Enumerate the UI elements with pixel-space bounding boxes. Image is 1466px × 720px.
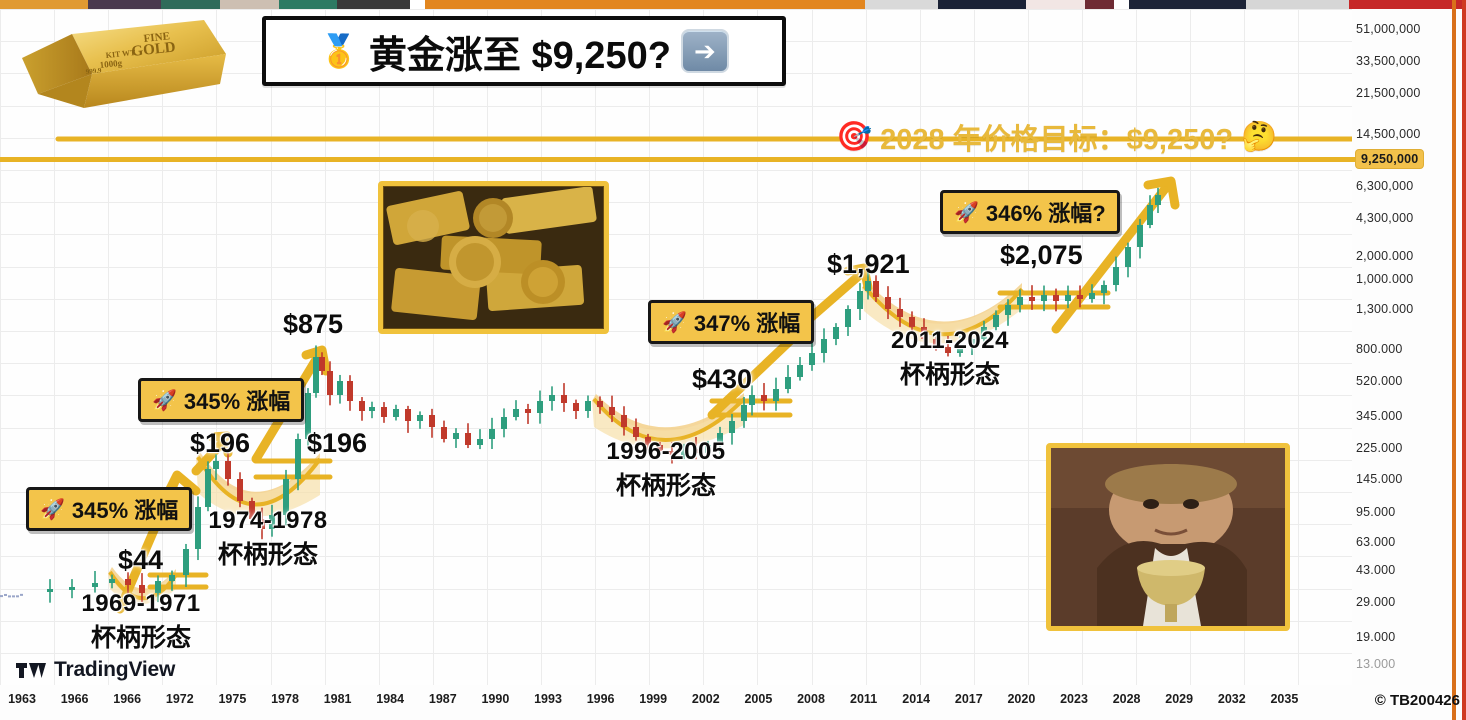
price-axis-tick: 13.000 bbox=[1356, 657, 1448, 671]
price-axis-tick: 6,300,000 bbox=[1356, 179, 1448, 193]
price-axis[interactable]: 51,000,00033,500,00021,500,00014,500,000… bbox=[1356, 0, 1452, 720]
price-callout: $430 bbox=[692, 364, 752, 395]
time-axis-tick: 2017 bbox=[955, 692, 983, 706]
arrow-right-icon[interactable]: ➔ bbox=[681, 29, 729, 73]
price-callout: $875 bbox=[283, 309, 343, 340]
rocket-icon: 🚀 bbox=[40, 497, 65, 522]
time-axis-tick: 1963 bbox=[8, 692, 36, 706]
time-axis-tick: 1990 bbox=[481, 692, 509, 706]
time-axis-tick: 1996 bbox=[587, 692, 615, 706]
dart-target-icon: 🎯 bbox=[836, 120, 872, 154]
tradingview-mark-icon bbox=[16, 662, 46, 679]
price-axis-tick: 19.000 bbox=[1356, 630, 1448, 644]
gain-badge-label: 346% 涨幅? bbox=[986, 196, 1106, 228]
price-axis-tick: 63.000 bbox=[1356, 535, 1448, 549]
pattern-years: 1969-1971 bbox=[81, 590, 200, 618]
time-axis-tick: 2020 bbox=[1007, 692, 1035, 706]
time-axis-tick: 1999 bbox=[639, 692, 667, 706]
price-axis-tick: 9,250,000 bbox=[1356, 150, 1423, 168]
price-axis-tick: 95.000 bbox=[1356, 505, 1448, 519]
price-axis-tick: 43.000 bbox=[1356, 563, 1448, 577]
medal-icon: 🥇 bbox=[319, 35, 359, 67]
pattern-years: 1996-2005 bbox=[606, 438, 725, 466]
time-axis-tick: 2005 bbox=[744, 692, 772, 706]
time-axis-tick: 2002 bbox=[692, 692, 720, 706]
time-axis-tick: 1972 bbox=[166, 692, 194, 706]
price-axis-tick: 1,000.000 bbox=[1356, 272, 1448, 286]
price-axis-tick: 51,000,000 bbox=[1356, 22, 1448, 36]
gain-badge: 🚀345% 涨幅 bbox=[26, 487, 192, 531]
time-axis-tick: 2014 bbox=[902, 692, 930, 706]
pattern-name: 杯柄形态 bbox=[891, 355, 1009, 391]
headline-banner: 🥇 黄金涨至 $9,250? ➔ bbox=[262, 16, 786, 86]
price-axis-tick: 4,300,000 bbox=[1356, 211, 1448, 225]
price-axis-tick: 2,000.000 bbox=[1356, 249, 1448, 263]
time-axis-tick: 2008 bbox=[797, 692, 825, 706]
time-axis-tick: 1966 bbox=[113, 692, 141, 706]
price-callout: $196 bbox=[307, 428, 367, 459]
price-axis-tick: 800.000 bbox=[1356, 342, 1448, 356]
tradingview-logo: TradingView bbox=[16, 658, 175, 682]
gold-price-chart-infographic: FINE GOLD KIT WT 1000g 999.9 🥇 黄金涨至 $9,2… bbox=[0, 0, 1466, 720]
price-target-callout: 🎯 2028 年价格目标：$9,250? 🤔 bbox=[836, 116, 1277, 158]
rocket-icon: 🚀 bbox=[662, 310, 687, 335]
gain-badge-label: 345% 涨幅 bbox=[72, 493, 178, 525]
price-axis-tick: 520.000 bbox=[1356, 374, 1448, 388]
headline-text: 黄金涨至 $9,250? bbox=[369, 24, 671, 79]
pattern-name: 杯柄形态 bbox=[606, 466, 725, 502]
price-callout: $1,921 bbox=[827, 249, 910, 280]
pattern-years: 2011-2024 bbox=[891, 327, 1009, 355]
pattern-years: 1974-1978 bbox=[208, 507, 327, 535]
rocket-icon: 🚀 bbox=[152, 388, 177, 413]
gain-badge: 🚀346% 涨幅? bbox=[940, 190, 1120, 234]
pattern-label: 2011-2024杯柄形态 bbox=[891, 327, 1009, 391]
price-axis-tick: 145.000 bbox=[1356, 472, 1448, 486]
price-axis-tick: 29.000 bbox=[1356, 595, 1448, 609]
time-axis-tick: 1975 bbox=[218, 692, 246, 706]
time-axis[interactable]: © TB200426 19631966196619721975197819811… bbox=[0, 692, 1466, 720]
gold-bar-image: FINE GOLD KIT WT 1000g 999.9 bbox=[14, 12, 229, 117]
time-axis-tick: 2011 bbox=[850, 692, 877, 706]
time-axis-tick: 2032 bbox=[1218, 692, 1246, 706]
indiana-jones-grail-photo bbox=[1046, 443, 1290, 631]
pattern-name: 杯柄形态 bbox=[208, 535, 327, 571]
time-axis-tick: 1987 bbox=[429, 692, 457, 706]
rocket-icon: 🚀 bbox=[954, 200, 979, 225]
price-axis-tick: 1,300.000 bbox=[1356, 302, 1448, 316]
pattern-name: 杯柄形态 bbox=[81, 618, 200, 654]
time-axis-tick: 1984 bbox=[376, 692, 404, 706]
time-axis-tick: 2028 bbox=[1113, 692, 1141, 706]
chart-outer-border bbox=[1462, 0, 1466, 720]
chart-right-border bbox=[1452, 0, 1456, 720]
time-axis-tick: 2029 bbox=[1165, 692, 1193, 706]
price-axis-tick: 225.000 bbox=[1356, 441, 1448, 455]
price-callout: $2,075 bbox=[1000, 240, 1083, 271]
copyright-label: © TB200426 bbox=[1375, 692, 1460, 709]
price-axis-tick: 345.000 bbox=[1356, 409, 1448, 423]
time-axis-tick: 1981 bbox=[324, 692, 352, 706]
time-axis-tick: 2035 bbox=[1270, 692, 1298, 706]
price-axis-tick: 14,500,000 bbox=[1356, 127, 1448, 141]
time-axis-tick: 1993 bbox=[534, 692, 562, 706]
pattern-label: 1996-2005杯柄形态 bbox=[606, 438, 725, 502]
price-target-text: 2028 年价格目标：$9,250? bbox=[880, 116, 1233, 158]
price-axis-tick: 21,500,000 bbox=[1356, 86, 1448, 100]
pattern-label: 1974-1978杯柄形态 bbox=[208, 507, 327, 571]
price-axis-tick: 33,500,000 bbox=[1356, 54, 1448, 68]
svg-text:999.9: 999.9 bbox=[85, 66, 102, 76]
tradingview-wordmark: TradingView bbox=[54, 658, 175, 682]
top-thumbnail-strip bbox=[0, 0, 1466, 9]
gain-badge: 🚀345% 涨幅 bbox=[138, 378, 304, 422]
price-callout: $196 bbox=[190, 428, 250, 459]
time-axis-tick: 1966 bbox=[61, 692, 89, 706]
price-callout: $44 bbox=[118, 545, 163, 576]
thinking-face-icon: 🤔 bbox=[1241, 120, 1277, 154]
gain-badge-label: 347% 涨幅 bbox=[694, 306, 800, 338]
gold-bars-and-coins-photo bbox=[378, 181, 609, 334]
time-axis-tick: 2023 bbox=[1060, 692, 1088, 706]
gain-badge-label: 345% 涨幅 bbox=[184, 384, 290, 416]
gain-badge: 🚀347% 涨幅 bbox=[648, 300, 814, 344]
pattern-label: 1969-1971杯柄形态 bbox=[81, 590, 200, 654]
time-axis-tick: 1978 bbox=[271, 692, 299, 706]
